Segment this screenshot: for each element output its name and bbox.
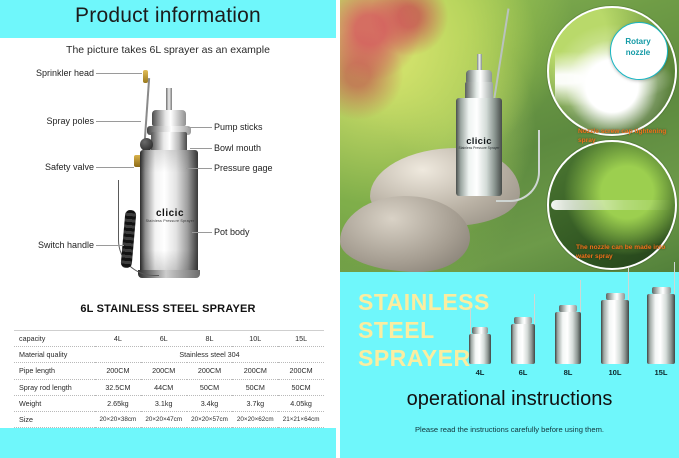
leader-pump-sticks [188, 127, 212, 128]
label-pump-sticks: Pump sticks [214, 122, 263, 132]
lineup-item-15l: 15L [642, 278, 679, 364]
cell-pipe-10l: 200CM [232, 363, 278, 379]
cell-size-6l: 20×20×47cm [141, 411, 187, 427]
photo-sprayer: clicic Stainless Pressure Sprayer [448, 52, 512, 198]
leader-sprinkler-head [96, 73, 142, 74]
cell-size-8l: 20×20×57cm [187, 411, 233, 427]
cell-weight-10l: 3.7kg [232, 395, 278, 411]
lineup-tank-4l [469, 334, 491, 364]
row-header-weight: Weight [14, 395, 95, 411]
cell-capacity-4l: 4L [95, 331, 141, 347]
sprayer-illustration: clicic Stainless Pressure Sprayer [118, 60, 238, 300]
sprayer-diagram: clicic Stainless Pressure Sprayer Sprink… [0, 60, 336, 300]
cell-pipe-8l: 200CM [187, 363, 233, 379]
leader-switch-handle [96, 245, 124, 246]
cell-rod-10l: 50CM [232, 379, 278, 395]
lineup-cap-8l [559, 305, 577, 312]
headline-line-3: SPRAYER [358, 345, 471, 371]
annotation-nozzle-screw-cap: Nozzle screw cap tightening spray [578, 128, 677, 145]
photo-brand-tagline: Stainless Pressure Sprayer [452, 146, 506, 150]
cell-pipe-15l: 200CM [278, 363, 324, 379]
label-pressure-gage: Pressure gage [214, 163, 273, 173]
lineup-cap-6l [514, 317, 532, 324]
lineup-wand-6l [534, 294, 535, 324]
page-title: Product information [0, 4, 336, 28]
lineup-wand-10l [628, 268, 629, 300]
label-sprinkler-head: Sprinkler head [8, 68, 94, 78]
row-header-pipe-length: Pipe length [14, 363, 95, 379]
cell-weight-15l: 4.05kg [278, 395, 324, 411]
lineup-cap-10l [606, 293, 625, 300]
cell-size-4l: 20×20×38cm [95, 411, 141, 427]
cell-capacity-6l: 6L [141, 331, 187, 347]
lineup-wand-8l [580, 280, 581, 312]
lineup-label-6l: 6L [506, 368, 540, 377]
label-bowl-mouth: Bowl mouth [214, 143, 261, 153]
lineup-label-15l: 15L [642, 368, 679, 377]
rock-2 [340, 196, 470, 272]
cell-size-10l: 20×20×62cm [232, 411, 278, 427]
leader-pressure-gage [186, 168, 212, 169]
annotation-nozzle-water-spray: The nozzle can be made into water spray [576, 244, 677, 261]
spray-jet-detail [551, 200, 673, 210]
lineup-cap-15l [652, 287, 671, 294]
lineup-label-10l: 10L [596, 368, 634, 377]
cell-rod-8l: 50CM [187, 379, 233, 395]
headline-line-2: STEEL [358, 317, 435, 343]
cell-capacity-8l: 8L [187, 331, 233, 347]
photo-spray-wand [493, 8, 510, 103]
cell-pipe-6l: 200CM [141, 363, 187, 379]
specification-table: capacity 4L 6L 8L 10L 15L Material quali… [14, 330, 324, 428]
row-header-spray-rod: Spray rod length [14, 379, 95, 395]
operational-instructions-subtitle: Please read the instructions carefully b… [340, 425, 679, 434]
rotary-nozzle-badge-label: Rotary nozzle [610, 36, 666, 58]
lineup-tank-8l [555, 312, 581, 364]
label-switch-handle: Switch handle [4, 240, 94, 250]
leader-bowl-mouth [190, 148, 212, 149]
brand-tagline: Stainless Pressure Sprayer [142, 219, 198, 223]
subtitle: The picture takes 6L sprayer as an examp… [0, 44, 336, 56]
lineup-label-8l: 8L [550, 368, 586, 377]
product-information-page: Product information The picture takes 6L… [0, 0, 679, 458]
lineup-wand-15l [674, 262, 675, 294]
label-pot-body: Pot body [214, 227, 250, 237]
lineup-cap-4l [472, 327, 488, 334]
lineup-tank-6l [511, 324, 535, 364]
lineup-item-4l: 4L [464, 320, 496, 364]
cell-capacity-15l: 15L [278, 331, 324, 347]
row-header-size: Size [14, 411, 95, 427]
cell-weight-6l: 3.1kg [141, 395, 187, 411]
table-row-size: Size 20×20×38cm 20×20×47cm 20×20×57cm 20… [14, 411, 324, 427]
badge-line-1: Rotary [625, 37, 650, 46]
cell-weight-8l: 3.4kg [187, 395, 233, 411]
left-footer-bar [0, 434, 336, 458]
label-safety-valve: Safety valve [8, 162, 94, 172]
pump-stick-part [166, 88, 172, 112]
lineup-item-6l: 6L [506, 308, 540, 364]
table-row-pipe-length: Pipe length 200CM 200CM 200CM 200CM 200C… [14, 363, 324, 379]
table-row-material: Material quality Stainless steel 304 [14, 347, 324, 363]
sprayer-size-lineup: 4L 6L 8L 10L 15L [462, 282, 676, 378]
badge-line-2: nozzle [626, 48, 650, 57]
row-header-material: Material quality [14, 347, 95, 363]
lineup-tank-10l [601, 300, 629, 364]
photo-hose [496, 130, 540, 202]
table-row-spray-rod: Spray rod length 32.5CM 44CM 50CM 50CM 5… [14, 379, 324, 395]
table-row-weight: Weight 2.65kg 3.1kg 3.4kg 3.7kg 4.05kg [14, 395, 324, 411]
lineup-tank-15l [647, 294, 675, 364]
cell-rod-6l: 44CM [141, 379, 187, 395]
leader-pot-body [192, 232, 212, 233]
left-panel: Product information The picture takes 6L… [0, 0, 336, 458]
lineup-item-10l: 10L [596, 284, 634, 364]
operational-instructions-title: operational instructions [340, 388, 679, 411]
pump-cap-part [152, 110, 186, 126]
brand-logo: clicic [148, 208, 192, 219]
leader-safety-valve [96, 167, 134, 168]
lineup-item-8l: 8L [550, 296, 586, 364]
cell-capacity-10l: 10L [232, 331, 278, 347]
cell-weight-4l: 2.65kg [95, 395, 141, 411]
leader-spray-poles [96, 121, 141, 122]
label-spray-poles: Spray poles [8, 116, 94, 126]
cell-material-quality: Stainless steel 304 [95, 347, 324, 363]
table-row-capacity: capacity 4L 6L 8L 10L 15L [14, 331, 324, 347]
cell-pipe-4l: 200CM [95, 363, 141, 379]
row-header-capacity: capacity [14, 331, 95, 347]
lineup-label-4l: 4L [464, 368, 496, 377]
cell-rod-15l: 50CM [278, 379, 324, 395]
diagram-caption: 6L STAINLESS STEEL SPRAYER [0, 303, 336, 315]
cell-rod-4l: 32.5CM [95, 379, 141, 395]
cell-size-15l: 21×21×64cm [278, 411, 324, 427]
